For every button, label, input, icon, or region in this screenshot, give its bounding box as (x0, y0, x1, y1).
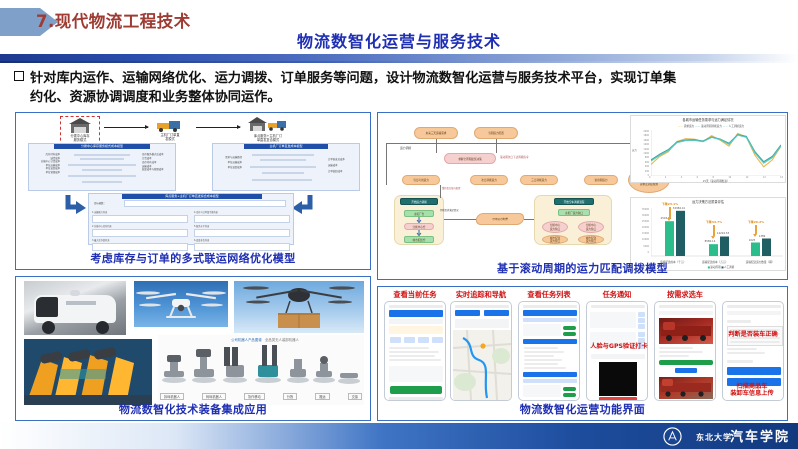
connector-1 (436, 139, 437, 153)
flow-node-day3: 三日调拨运力 (520, 175, 558, 185)
node-label-1: 分拨中心库存服务模式 (60, 134, 100, 142)
connector-4 (386, 143, 652, 144)
connector-8 (444, 219, 476, 220)
flow-node-oem-warehouse: 主机厂仓 (404, 210, 434, 217)
phone-label-2: 实时追踪和导航 (448, 290, 514, 300)
warehouse-truck-icon (248, 117, 288, 133)
connector-2 (496, 139, 497, 153)
phone-note-verify-loading: 判断是否装车正确 (718, 331, 788, 338)
model-right-terms: 需求与运输路径单位运输成本单位装卸成本 (214, 155, 242, 170)
header-divider-thin (0, 61, 798, 63)
flow-label-rolling-instruction: 滚动期次日下达调拨指令 (500, 155, 560, 159)
model-right-right-terms: 订单直发总成本运输成本订单装卸成本 (328, 157, 358, 174)
truck-icon-1 (156, 119, 182, 132)
flow-node-reuse: 复用期运力 (584, 175, 618, 185)
college-name: 汽车学院 (730, 426, 790, 445)
bar-annotation-arrow-2 (713, 225, 715, 236)
photo-logistics-robot-family: 公司机器人产品图谱 全品类无人装卸机器人 拆垛机器人 码 (158, 335, 364, 405)
flow-node-optimal-decision: 求解全周期最优决策 (444, 153, 496, 164)
line-chart-capacity: 各城市运输任务需求与运力满足情况 —— 需求运力 —— 滚动周期调拨运力 —— … (630, 115, 786, 183)
phone-label-5: 按需求选车 (652, 290, 718, 300)
panel-3-caption: 物流数智化技术装备集成应用 (16, 401, 370, 417)
flow-label-gap: 判断需求满足情况 (440, 208, 474, 212)
university-name: 东北大学 (696, 432, 732, 443)
line-chart-plot (651, 130, 781, 176)
curved-arrow-left-icon (64, 193, 88, 217)
photo-drone-package-delivery (234, 281, 364, 333)
connector-6 (440, 185, 441, 198)
phone-label-3: 查看任务列表 (516, 290, 582, 300)
flow-node-city-gap-1: 城市配送运力缺口 (542, 235, 568, 244)
flow-node-dc-gap-2: 分拨中心运力缺口 (578, 221, 604, 233)
flow-label-capacity-feedback: 运力调拨 (400, 146, 426, 150)
bullet-square-icon (14, 71, 24, 81)
model-box-left-title: 分拨中心库存服务模式成本模型 (54, 144, 150, 149)
panel-4-caption: 物流数智化运营功能界面 (378, 401, 787, 417)
panel-2-caption: 基于滚动周期的运力匹配调拨模型 (378, 260, 787, 276)
objective-label: 目标函数： (94, 201, 120, 205)
photo-industrial-robot-arms (24, 339, 152, 405)
model-left-formulas (66, 152, 138, 188)
bar-annotation-1: 下降23.1% (657, 202, 683, 206)
bar-annotation-arrow-3 (755, 225, 757, 234)
flow-node-day2: 次日调拨运力 (470, 175, 508, 185)
model-box-combined-title: 库点服务+主机厂订单直发综合成本模型 (122, 194, 262, 199)
down-arrow-icon-1 (416, 217, 422, 223)
panel-equipment: 公司机器人产品图谱 全品类无人装卸机器人 拆垛机器人 码 (15, 276, 371, 421)
line-chart-title: 各城市运输任务需求与运力满足情况 (631, 117, 785, 122)
header-divider (0, 54, 798, 61)
phone-screen-task-list[interactable] (518, 301, 580, 401)
robot-family-title: 公司机器人产品图谱 全品类无人装卸机器人 (180, 337, 350, 342)
node-label-3: 库点服务+主机厂订单直发复合模式 (242, 134, 294, 142)
flow-node-day1: 当日可用运力 (402, 175, 440, 185)
flow-node-start-dispatch: 开始运力调拨 (400, 198, 438, 205)
flow-label-priority: 重新优先级与配置 (442, 186, 470, 190)
phone-label-4: 任务通知 (584, 290, 650, 300)
bar-value-3: 8580.14 (703, 240, 717, 243)
model-left-right-terms: 库存服务模式总成本订货成本库存持有成本运输成本装卸成本与管理成本 (142, 153, 174, 172)
flow-node-city-gap-2: 城市配送运力缺口 (578, 235, 604, 244)
phone-screen-task-notification[interactable] (586, 301, 648, 401)
bullet-line-1: 针对库内运作、运输网络优化、运力调拨、订单服务等问题，设计物流数智化运营与服务技… (14, 70, 790, 89)
flow-node-demand: 未来三天运输需求 (414, 127, 458, 139)
panel-operation-ui: 查看当前任务 实时追踪和导航 (377, 286, 788, 421)
slide-title: 物流数智化运营与服务技术 (0, 28, 798, 52)
panel-capacity-matching: 未来三天运输需求 当期运力配置 求解全周期最优决策 滚动期次日下达调拨指令 运力… (377, 112, 788, 280)
university-logo-icon (663, 427, 682, 446)
model-right-formulas (248, 152, 322, 188)
bar-value-5: 1025 (747, 239, 757, 242)
panel-1-caption: 考虑库存与订单的多式联运网络优化模型 (16, 250, 370, 266)
warehouse-icon (68, 118, 92, 134)
flow-node-current-capacity: 当期运力配置 (474, 127, 518, 139)
bar-chart-title: 运力决策方法质量评估 (631, 199, 785, 204)
panel-multimodal-network: 分拨中心库存服务模式 主机厂订单直发模式 库点服务+主机厂订单直发复合模式 分拨… (15, 112, 371, 270)
phone-label-1: 查看当前任务 (382, 290, 448, 300)
flow-node-dc-gap-1: 分拨中心运力缺口 (542, 221, 568, 233)
down-arrow-icon-2 (416, 230, 422, 236)
bullet-paragraph: 针对库内运作、运输网络优化、运力调拨、订单服务等问题，设计物流数智化运营与服务技… (14, 70, 790, 107)
flow-node-dc-warehouse: 分拨中心仓 (404, 223, 434, 230)
constraint-col-right: 4.库存与订单量平衡约束 5.服务水平约束 6.变量非负约束 (194, 210, 290, 242)
arrow-2 (196, 127, 240, 128)
node-label-2: 主机厂订单直发模式 (150, 133, 190, 141)
photo-autonomous-delivery-vehicle (24, 281, 126, 335)
connector-3 (386, 143, 387, 185)
line-chart-xlabel: 15天（滚动周期推进） (651, 179, 781, 183)
bar-annotation-2: 下降44.7% (701, 220, 727, 224)
line-chart-yticks: 2000180016001400120010008006004002000 (637, 130, 649, 178)
bar-value-6: 1389 (757, 235, 767, 238)
bar-value-4: 14224.53 (715, 232, 731, 235)
phone-screen-vehicle-selection[interactable] (654, 301, 716, 401)
flow-node-city-warehouse: 城市配送仓 (404, 236, 434, 243)
bar-annotation-arrow-1 (669, 207, 671, 218)
connector-7 (524, 219, 534, 220)
flow-node-available-capacity: 可用运力配置 (475, 213, 526, 225)
bullet-line-2: 约化、资源协调调度和业务整体协同运作。 (14, 89, 790, 108)
phone-note-scan-upload: 扫描商品车装卸车信息上传 (716, 383, 788, 397)
photo-drone-quadcopter (134, 281, 228, 327)
bar-value-2: 32984.41 (671, 207, 687, 210)
bar-chart-yticks: 35000300002500020000150001000050000 (635, 207, 649, 256)
phone-screen-tracking-navigation[interactable] (450, 301, 512, 401)
arrow-1 (104, 127, 148, 128)
bar-annotation-3: 下降26.2% (743, 220, 769, 224)
model-left-terms: 库存持有成本缺货成本分拨中心订货成本单位运输成本单位装卸成本单位管理成本 (30, 153, 60, 175)
objective-formula (124, 200, 286, 207)
phone-screen-current-task[interactable] (384, 301, 446, 401)
flow-node-oem-gap: 主机厂运力缺口 (558, 209, 590, 216)
line-chart-legend: —— 需求运力 —— 滚动周期调拨运力 —— 人工调拨运力 (645, 124, 777, 128)
robot-tag-row: 拆垛机器人 码垛机器人 协作移动 分拣 搬运 交接 (160, 393, 362, 400)
phone-note-face-gps: 人脸与GPS验证打卡 (574, 343, 664, 350)
constraint-col-left: 1.运输能力约束 2.分拨中心库存约束 3.最大库存量约束 (92, 210, 188, 242)
flow-node-start-empty: 开始空车调拨流程 (554, 198, 594, 205)
model-box-right-title: 主机厂订单直发成本模型 (244, 144, 328, 149)
